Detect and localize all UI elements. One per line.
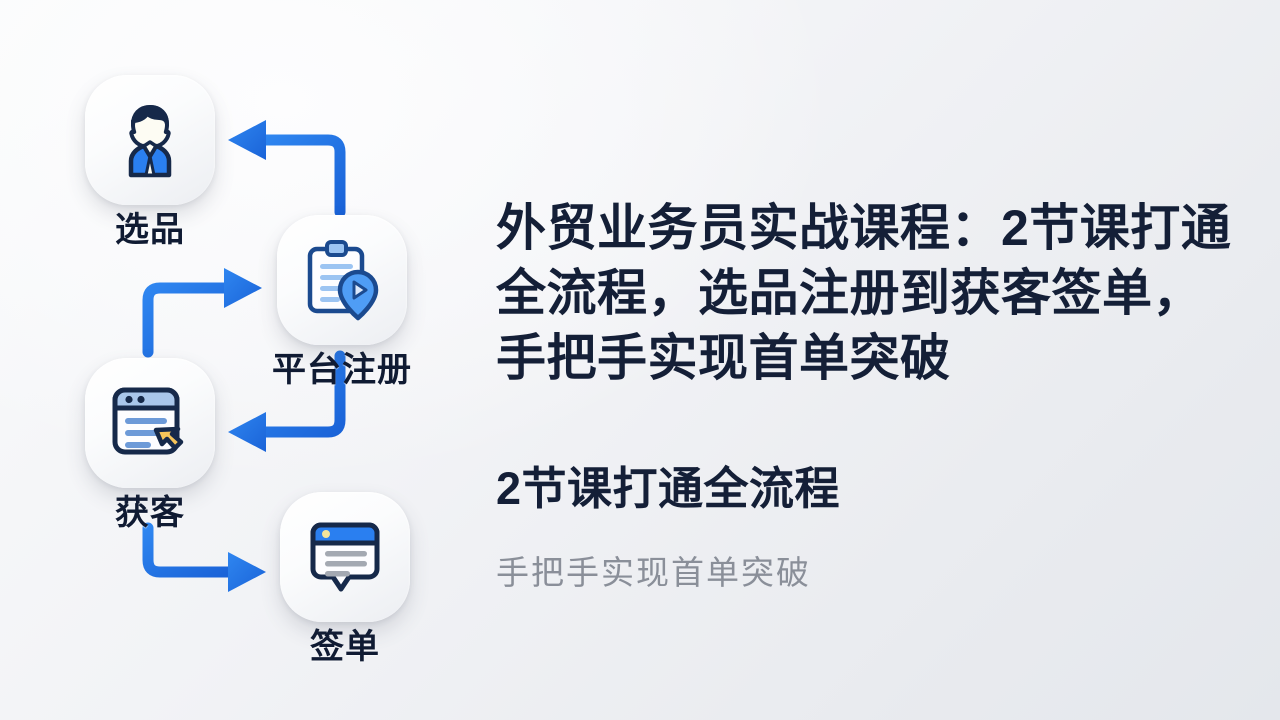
user-businessman-icon xyxy=(107,97,193,183)
process-flow-diagram: 选品 平台注册 xyxy=(0,0,470,720)
flow-node-customer-acquisition-tile xyxy=(85,358,215,488)
arrow-platform-to-selection xyxy=(228,120,340,212)
signed-document-bubble-icon xyxy=(303,515,387,599)
flow-node-order-signing[interactable]: 签单 xyxy=(280,492,410,666)
flow-node-selection-tile xyxy=(85,75,215,205)
flow-node-order-signing-tile xyxy=(280,492,410,622)
flow-node-selection-label: 选品 xyxy=(85,211,215,249)
course-tagline: 手把手实现首单突破 xyxy=(496,553,811,593)
browser-click-icon xyxy=(107,380,193,466)
poster-canvas: 选品 平台注册 xyxy=(0,0,1280,720)
arrow-acquisition-to-signing xyxy=(148,528,266,592)
flow-node-platform-registration[interactable]: 平台注册 xyxy=(277,215,437,389)
flow-node-platform-registration-tile xyxy=(277,215,407,345)
arrow-acquisition-to-platform xyxy=(148,268,262,352)
flow-node-platform-registration-label: 平台注册 xyxy=(247,351,437,389)
flow-node-selection[interactable]: 选品 xyxy=(85,75,215,249)
clipboard-location-icon xyxy=(298,236,386,324)
course-subhead: 2节课打通全流程 xyxy=(496,462,840,516)
flow-node-order-signing-label: 签单 xyxy=(280,628,410,666)
course-headline: 外贸业务员实战课程：2节课打通全流程，选品注册到获客签单，手把手实现首单突破 xyxy=(496,196,1248,391)
flow-node-customer-acquisition-label: 获客 xyxy=(85,494,215,532)
flow-node-customer-acquisition[interactable]: 获客 xyxy=(85,358,215,532)
text-column: 外贸业务员实战课程：2节课打通全流程，选品注册到获客签单，手把手实现首单突破 2… xyxy=(496,0,1266,720)
